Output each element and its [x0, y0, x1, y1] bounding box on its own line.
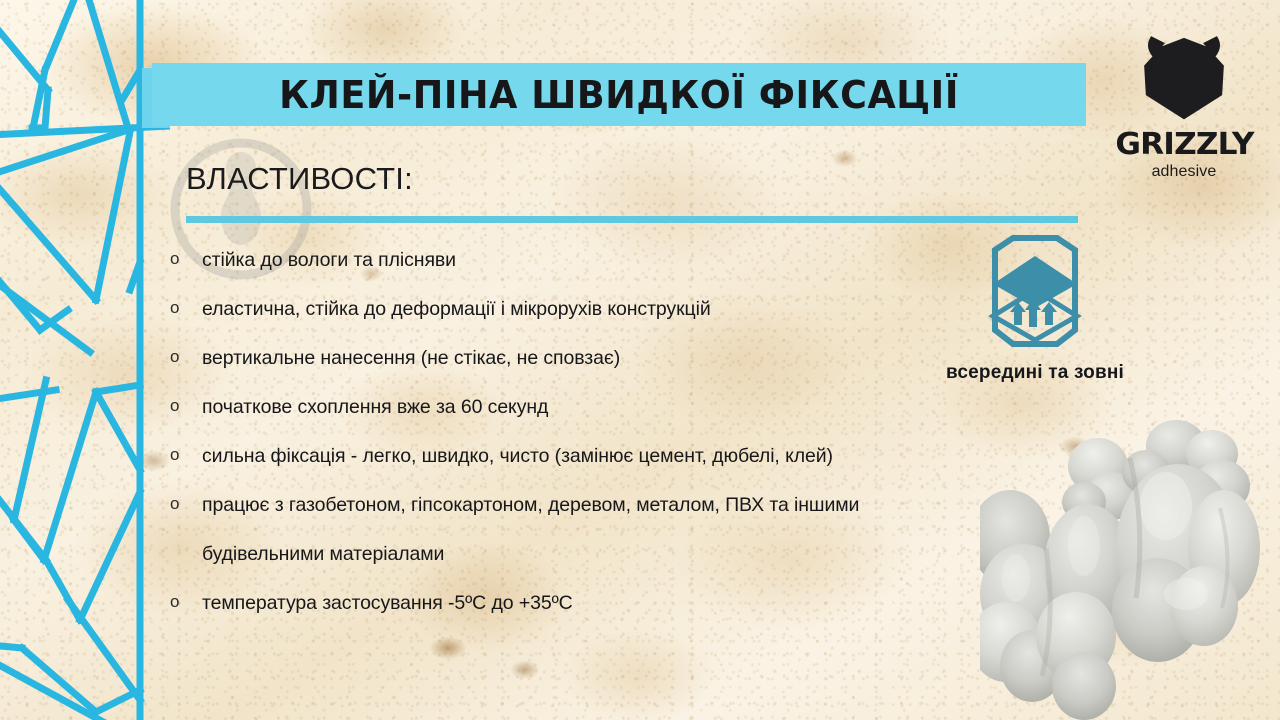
grizzly-bear-head-icon — [1132, 24, 1236, 128]
property-text: працює з газобетоном, гіпсокартоном, дер… — [202, 493, 859, 517]
property-text: стійка до вологи та плісняви — [202, 248, 456, 272]
property-item: oбудівельними матеріалами — [168, 542, 1068, 591]
indoor-outdoor-hexagon-icon — [973, 232, 1097, 356]
property-item: oпочаткове схоплення вже за 60 секунд — [168, 395, 1068, 444]
bullet-marker-icon: o — [170, 250, 179, 267]
property-text: початкове схоплення вже за 60 секунд — [202, 395, 548, 419]
property-text: будівельними матеріалами — [202, 542, 444, 566]
bullet-marker-icon: o — [170, 348, 179, 365]
bullet-marker-icon: o — [170, 495, 179, 512]
property-item: oсильна фіксація - легко, швидко, чисто … — [168, 444, 1068, 493]
section-divider — [186, 216, 1078, 223]
property-text: вертикальне нанесення (не стікає, не спо… — [202, 346, 620, 370]
bullet-marker-icon: o — [170, 593, 179, 610]
geometric-lines-panel — [0, 0, 170, 720]
logo-tagline: adhesive — [1152, 163, 1217, 181]
property-item: oтемпература застосування -5ºС до +35ºС — [168, 591, 1068, 640]
property-text: температура застосування -5ºС до +35ºС — [202, 591, 573, 615]
section-heading: ВЛАСТИВОСТІ: — [186, 161, 413, 197]
bullet-marker-icon: o — [170, 299, 179, 316]
slide-canvas: КЛЕЙ-ПІНА ШВИДКОЇ ФІКСАЦІЇ ВЛАСТИВОСТІ: … — [0, 0, 1280, 720]
usage-caption: всередині та зовні — [946, 362, 1124, 384]
logo-wordmark: GRIZZLY — [1115, 130, 1253, 160]
slide-title-bar: КЛЕЙ-ПІНА ШВИДКОЇ ФІКСАЦІЇ — [152, 63, 1086, 126]
property-item: oпрацює з газобетоном, гіпсокартоном, де… — [168, 493, 1068, 542]
slide-title: КЛЕЙ-ПІНА ШВИДКОЇ ФІКСАЦІЇ — [279, 73, 959, 117]
bullet-marker-icon: o — [170, 446, 179, 463]
property-text: сильна фіксація - легко, швидко, чисто (… — [202, 444, 833, 468]
bullet-marker-icon: o — [170, 397, 179, 414]
usage-badge: всередині та зовні — [920, 232, 1150, 384]
grizzly-logo: GRIZZLY adhesive — [1096, 24, 1272, 206]
property-text: еластична, стійка до деформації і мікрор… — [202, 297, 711, 321]
